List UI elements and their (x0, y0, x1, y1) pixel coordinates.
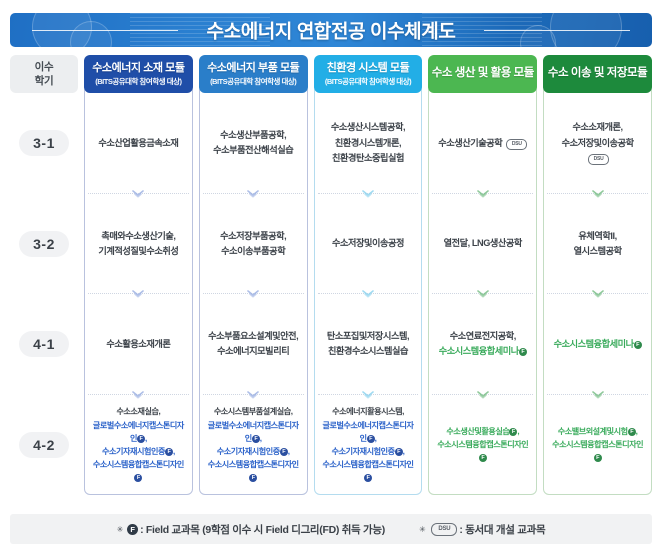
course-line: 수소이송부품공학 (220, 244, 286, 259)
module-column-2: 수소에너지 부품 모듈(BITS공유대학 참여학생 대상)수소생산부품공학,수소… (199, 55, 308, 495)
module-cell-c4-r1[interactable]: 수소생산기술공학 DSU (428, 93, 537, 194)
course-name: 열시스템공학 (574, 246, 622, 256)
course-name: , (145, 434, 147, 443)
module-header-3[interactable]: 친환경 시스템 모듈(BITS공유대학 참여학생 대상) (314, 55, 423, 93)
module-column-1: 수소에너지 소재 모듈(BITS공유대학 참여학생 대상)수소산업활용금속소재촉… (84, 55, 193, 495)
course-list: 수소소재실습,글로벌수소에너지캡스톤디자인F,수소기자재시험인증F,수소시스템융… (90, 405, 187, 484)
course-list: 수소생산기술공학 DSU (438, 136, 527, 151)
dsu-course-badge-icon: DSU (506, 139, 527, 150)
course-name: 수소저장부품공학, (220, 231, 286, 241)
module-title: 수소 이송 및 저장모듈 (548, 67, 647, 81)
semester-cell: 4-2 (10, 395, 78, 496)
module-cell-c4-r4[interactable]: 수소생산및활용실습F,수소시스템융합캡스톤디자인F (428, 395, 537, 496)
semester-badge-4-1: 4-1 (19, 331, 69, 357)
course-line: 수소시스템융합캡스톤디자인F (205, 458, 302, 484)
field-degree-badge-icon: F (634, 341, 642, 349)
module-cell-c2-r4[interactable]: 수소시스템부품설계실습,글로벌수소에너지캡스톤디자인F,수소기자재시험인증F,수… (199, 395, 308, 496)
field-degree-badge-icon: F (395, 448, 403, 456)
course-name: 수소소재개론, (573, 122, 623, 132)
course-name: 수소활용소재개론 (106, 339, 170, 349)
course-line: 친환경수소시스템실습 (327, 344, 409, 359)
course-name: 수소생산기술공학 (438, 138, 504, 148)
course-line: 수소생산및활용실습F, (434, 425, 531, 438)
course-line: 수소생산기술공학 DSU (438, 136, 527, 151)
field-degree-badge-icon: F (137, 435, 145, 443)
semester-badge-3-2: 3-2 (19, 231, 69, 257)
module-cell-c3-r3[interactable]: 탄소포집및저장시스템,친환경수소시스템실습 (314, 294, 423, 395)
course-name: 수소이송부품공학 (221, 246, 285, 256)
semester-badge-3-1: 3-1 (19, 130, 69, 156)
module-column-3: 친환경 시스템 모듈(BITS공유대학 참여학생 대상)수소생산시스템공학,친환… (314, 55, 423, 495)
module-cell-c5-r4[interactable]: 수소밸브외설계및시험F,수소시스템융합캡스톤디자인F (543, 395, 652, 496)
course-name: 수소시스템융합캡스톤디자인 (208, 460, 299, 469)
course-line: 수소활용소재개론 (106, 337, 170, 352)
course-list: 수소생산시스템공학,친환경시스템개론,친환경탄소중립실험 (331, 120, 405, 166)
course-line: 수소시스템부품설계실습, (205, 405, 302, 418)
course-list: 수소활용소재개론 (106, 337, 170, 352)
module-cell-c1-r3[interactable]: 수소활용소재개론 (84, 294, 193, 395)
course-line: 수소부품전산해석실습 (213, 143, 293, 158)
module-header-1[interactable]: 수소에너지 소재 모듈(BITS공유대학 참여학생 대상) (84, 55, 193, 93)
course-name: 수소밸브외설계및시험 (558, 427, 628, 436)
course-name: , (517, 427, 519, 436)
field-degree-badge-icon: F (127, 524, 138, 535)
course-name: 수소에너지모빌리티 (217, 346, 289, 356)
module-cell-c2-r1[interactable]: 수소생산부품공학,수소부품전산해석실습 (199, 93, 308, 194)
semester-column: 이수 학기 3-1 3-2 4-1 4-2 (10, 55, 78, 495)
module-title: 수소에너지 부품 모듈 (207, 62, 299, 75)
page-title-banner: 수소에너지 연합전공 이수체계도 (10, 13, 652, 47)
course-line: 수소저장및이송공정 (332, 236, 404, 251)
legend-bar: ✳ F : Field 교과목 (9학점 이수 시 Field 디그리(FD) … (10, 514, 652, 544)
course-name: 수소시스템융합캡스톤디자인 (552, 440, 643, 449)
course-line: 열시스템공학 (574, 244, 622, 259)
semester-cell: 3-1 (10, 93, 78, 194)
course-name: 수소생산부품공학, (220, 130, 286, 140)
module-cell-c5-r2[interactable]: 유체역학II,열시스템공학 (543, 194, 652, 295)
course-name: 수소시스템융합세미나 (439, 346, 519, 356)
field-degree-badge-icon: F (628, 428, 636, 436)
course-line: 유체역학II, (574, 229, 622, 244)
module-subtitle: (BITS공유대학 참여학생 대상) (325, 77, 411, 86)
module-header-2[interactable]: 수소에너지 부품 모듈(BITS공유대학 참여학생 대상) (199, 55, 308, 93)
course-name: 열전달, LNG생산공학 (444, 238, 522, 248)
course-name: 수소생산및활용실습 (446, 427, 509, 436)
course-list: 열전달, LNG생산공학 (444, 236, 522, 251)
course-list: 수소저장부품공학,수소이송부품공학 (220, 229, 286, 259)
module-cell-c4-r3[interactable]: 수소연료전지공학,수소시스템융합세미나F (428, 294, 537, 395)
module-title: 친환경 시스템 모듈 (327, 62, 410, 75)
legend-item-dsu: ✳ DSU : 동서대 개설 교과목 (419, 522, 545, 537)
semester-cell: 3-2 (10, 194, 78, 295)
course-name: 수소기자재시험인증 (102, 447, 165, 456)
course-line: 수소시스템융합세미나F (439, 344, 527, 359)
page-title: 수소에너지 연합전공 이수체계도 (10, 17, 652, 44)
course-line: 수소소재개론, (549, 120, 646, 135)
course-list: 수소생산및활용실습F,수소시스템융합캡스톤디자인F (434, 425, 531, 464)
course-name: 친환경수소시스템실습 (328, 346, 408, 356)
course-name: 수소부품전산해석실습 (213, 145, 293, 155)
course-list: 수소밸브외설계및시험F,수소시스템융합캡스톤디자인F (549, 425, 646, 464)
course-name: , (288, 447, 290, 456)
course-list: 수소시스템부품설계실습,글로벌수소에너지캡스톤디자인F,수소기자재시험인증F,수… (205, 405, 302, 484)
course-line: 글로벌수소에너지캡스톤디자인F, (320, 419, 417, 445)
course-line: 수소생산시스템공학, (331, 120, 405, 135)
course-list: 수소에너지활용시스템,글로벌수소에너지캡스톤디자인F,수소기자재시험인증F,수소… (320, 405, 417, 484)
course-line: 수소밸브외설계및시험F, (549, 425, 646, 438)
field-degree-badge-icon: F (249, 474, 257, 482)
course-line: 친환경시스템개론, (331, 136, 405, 151)
field-degree-badge-icon: F (594, 454, 602, 462)
field-degree-badge-icon: F (364, 474, 372, 482)
module-cell-c1-r2[interactable]: 촉매와수소생산기술,기계적성질및수소취성 (84, 194, 193, 295)
field-degree-badge-icon: F (367, 435, 375, 443)
module-cell-c2-r3[interactable]: 수소부품요소설계및안전,수소에너지모빌리티 (199, 294, 308, 395)
course-name: 수소시스템융합세미나 (554, 339, 634, 349)
course-name: 수소생산시스템공학, (331, 122, 405, 132)
dsu-course-badge-icon: DSU (431, 523, 457, 536)
module-cell-c3-r4[interactable]: 수소에너지활용시스템,글로벌수소에너지캡스톤디자인F,수소기자재시험인증F,수소… (314, 395, 423, 496)
course-line: 촉매와수소생산기술, (98, 229, 178, 244)
course-line: 수소저장부품공학, (220, 229, 286, 244)
legend-bullet-icon: ✳ (419, 525, 425, 534)
module-cell-c3-r1[interactable]: 수소생산시스템공학,친환경시스템개론,친환경탄소중립실험 (314, 93, 423, 194)
course-name: , (636, 427, 638, 436)
course-name: 수소부품요소설계및안전, (208, 331, 298, 341)
module-cell-c2-r2[interactable]: 수소저장부품공학,수소이송부품공학 (199, 194, 308, 295)
module-cell-c4-r2[interactable]: 열전달, LNG생산공학 (428, 194, 537, 295)
semester-badge-4-2: 4-2 (19, 432, 69, 458)
course-line: 수소부품요소설계및안전, (208, 329, 298, 344)
course-list: 탄소포집및저장시스템,친환경수소시스템실습 (327, 329, 409, 359)
course-name: , (403, 447, 405, 456)
course-name: 수소연료전지공학, (450, 331, 516, 341)
semester-header-line2: 학기 (35, 74, 54, 88)
dsu-course-badge-icon: DSU (588, 154, 609, 165)
course-line: 수소소재실습, (90, 405, 187, 418)
curriculum-grid: 이수 학기 3-1 3-2 4-1 4-2 수소에너지 소재 모듈(BITS공유… (10, 55, 652, 495)
course-list: 수소시스템융합세미나F (554, 337, 642, 352)
course-name: 탄소포집및저장시스템, (327, 331, 409, 341)
module-title: 수소 생산 및 활용 모듈 (432, 67, 534, 81)
field-degree-badge-icon: F (519, 348, 527, 356)
course-line: 수소시스템융합세미나F (554, 337, 642, 352)
course-line: 수소시스템융합캡스톤디자인F (434, 438, 531, 464)
module-cell-c5-r1[interactable]: 수소소재개론,수소저장및이송공학 DSU (543, 93, 652, 194)
course-line: 수소시스템융합캡스톤디자인F (320, 458, 417, 484)
course-line: 수소시스템융합캡스톤디자인F (549, 438, 646, 464)
legend-field-text: : Field 교과목 (9학점 이수 시 Field 디그리(FD) 취득 가… (140, 522, 385, 537)
legend-bullet-icon: ✳ (117, 525, 123, 534)
field-degree-badge-icon: F (479, 454, 487, 462)
course-line: 수소저장및이송공학 DSU (549, 136, 646, 166)
module-title: 수소에너지 소재 모듈 (92, 62, 184, 75)
course-list: 수소소재개론,수소저장및이송공학 DSU (549, 120, 646, 166)
course-name: 친환경시스템개론, (335, 138, 401, 148)
module-header-5[interactable]: 수소 이송 및 저장모듈 (543, 55, 652, 93)
course-name: 수소기자재시험인증 (332, 447, 395, 456)
course-name: , (260, 434, 262, 443)
course-name: 수소시스템융합캡스톤디자인 (93, 460, 184, 469)
course-name: 촉매와수소생산기술, (101, 231, 175, 241)
course-line: 열전달, LNG생산공학 (444, 236, 522, 251)
legend-item-field: ✳ F : Field 교과목 (9학점 이수 시 Field 디그리(FD) … (117, 522, 385, 537)
course-name: 수소산업활용금속소재 (98, 138, 178, 148)
module-subtitle: (BITS공유대학 참여학생 대상) (95, 77, 181, 86)
module-column-5: 수소 이송 및 저장모듈수소소재개론,수소저장및이송공학 DSU유체역학II,열… (543, 55, 652, 495)
course-list: 수소저장및이송공정 (332, 236, 404, 251)
course-name: 기계적성질및수소취성 (98, 246, 178, 256)
course-line: 수소에너지활용시스템, (320, 405, 417, 418)
field-degree-badge-icon: F (165, 448, 173, 456)
course-name: 수소저장및이송공정 (332, 238, 404, 248)
course-list: 촉매와수소생산기술,기계적성질및수소취성 (98, 229, 178, 259)
course-name: 수소시스템융합캡스톤디자인 (437, 440, 528, 449)
field-degree-badge-icon: F (134, 474, 142, 482)
field-degree-badge-icon: F (280, 448, 288, 456)
course-name: 수소소재실습, (117, 407, 161, 416)
course-list: 수소연료전지공학,수소시스템융합세미나F (439, 329, 527, 359)
course-name: , (173, 447, 175, 456)
course-line: 수소기자재시험인증F, (90, 445, 187, 458)
course-line: 글로벌수소에너지캡스톤디자인F, (205, 419, 302, 445)
course-list: 수소부품요소설계및안전,수소에너지모빌리티 (208, 329, 298, 359)
semester-cell: 4-1 (10, 294, 78, 395)
legend-dsu-text: : 동서대 개설 교과목 (459, 522, 545, 537)
module-column-4: 수소 생산 및 활용 모듈수소생산기술공학 DSU열전달, LNG생산공학수소연… (428, 55, 537, 495)
course-line: 수소연료전지공학, (439, 329, 527, 344)
course-name: 수소에너지활용시스템, (332, 407, 404, 416)
semester-column-header: 이수 학기 (10, 55, 78, 93)
course-name: 수소저장및이송공학 (562, 138, 634, 148)
module-cell-c3-r2[interactable]: 수소저장및이송공정 (314, 194, 423, 295)
course-line: 탄소포집및저장시스템, (327, 329, 409, 344)
course-line: 글로벌수소에너지캡스톤디자인F, (90, 419, 187, 445)
course-line: 수소산업활용금속소재 (98, 136, 178, 151)
course-line: 수소생산부품공학, (213, 128, 293, 143)
module-subtitle: (BITS공유대학 참여학생 대상) (210, 77, 296, 86)
course-list: 유체역학II,열시스템공학 (574, 229, 622, 259)
course-line: 수소시스템융합캡스톤디자인F (90, 458, 187, 484)
course-list: 수소생산부품공학,수소부품전산해석실습 (213, 128, 293, 158)
module-cell-c5-r3[interactable]: 수소시스템융합세미나F (543, 294, 652, 395)
module-cell-c1-r4[interactable]: 수소소재실습,글로벌수소에너지캡스톤디자인F,수소기자재시험인증F,수소시스템융… (84, 395, 193, 496)
course-name: 수소시스템부품설계실습, (214, 407, 293, 416)
course-line: 수소기자재시험인증F, (320, 445, 417, 458)
module-cell-c1-r1[interactable]: 수소산업활용금속소재 (84, 93, 193, 194)
course-line: 친환경탄소중립실험 (331, 151, 405, 166)
course-line: 수소에너지모빌리티 (208, 344, 298, 359)
course-line: 수소기자재시험인증F, (205, 445, 302, 458)
course-name: , (375, 434, 377, 443)
module-header-4[interactable]: 수소 생산 및 활용 모듈 (428, 55, 537, 93)
course-name: 수소시스템융합캡스톤디자인 (323, 460, 414, 469)
course-line: 기계적성질및수소취성 (98, 244, 178, 259)
course-name: 유체역학II, (578, 231, 616, 241)
course-name: 수소기자재시험인증 (217, 447, 280, 456)
field-degree-badge-icon: F (252, 435, 260, 443)
course-name: 친환경탄소중립실험 (332, 153, 404, 163)
semester-header-line1: 이수 (35, 60, 54, 74)
course-list: 수소산업활용금속소재 (98, 136, 178, 151)
